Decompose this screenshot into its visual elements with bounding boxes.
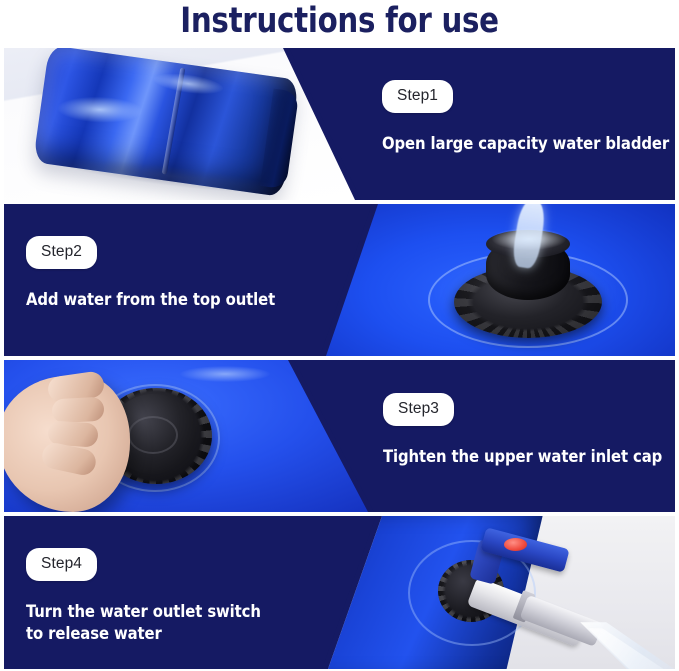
step-2-textblock: Step2 Add water from the top outlet [26,236,275,311]
outlet-valve-releasing-water-photo [322,516,675,669]
step-3-textblock: Step3 Tighten the upper water inlet cap [383,393,662,468]
step-1-badge: Step1 [382,80,453,113]
step-3-badge: Step3 [383,393,454,426]
step-4-description: Turn the water outlet switch to release … [26,601,261,647]
valve-red-button [504,538,527,551]
step-row-2: Step2 Add water from the top outlet [4,204,675,356]
cap-embossed-circle [128,416,178,454]
step-1-textblock: Step1 Open large capacity water bladder [382,80,669,155]
step-row-3: Step3 Tighten the upper water inlet cap [4,360,675,512]
step-2-badge: Step2 [26,236,97,269]
step-3-description: Tighten the upper water inlet cap [383,446,662,469]
step-4-textblock: Step4 Turn the water outlet switch to re… [26,548,261,646]
page-title: Instructions for use [24,0,655,44]
step-2-description: Add water from the top outlet [26,289,275,312]
instructions-infographic: Instructions for use Step1 Open large ca… [0,0,679,671]
finger-middle [51,397,104,424]
step-row-4: Step4 Turn the water outlet switch to re… [4,516,675,669]
bladder-surface-highlight [180,366,270,382]
step-1-description: Open large capacity water bladder [382,133,669,156]
step-row-1: Step1 Open large capacity water bladder [4,48,675,200]
water-pouring-into-inlet-cap-photo [320,204,675,356]
step-4-badge: Step4 [26,548,97,581]
